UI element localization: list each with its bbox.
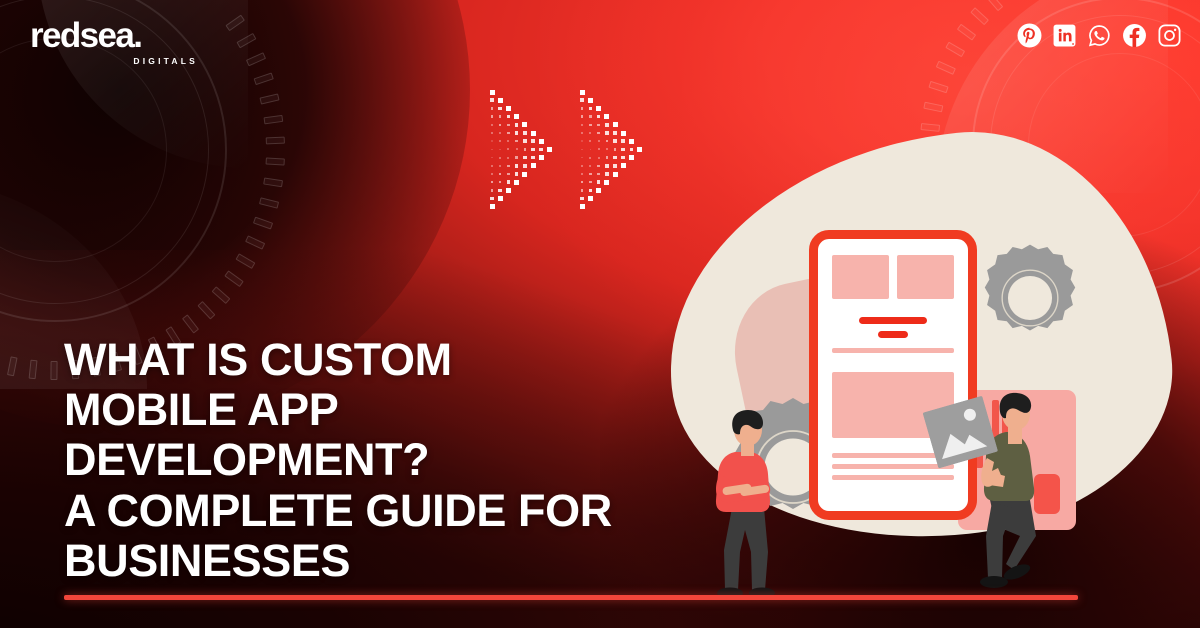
- instagram-icon[interactable]: [1156, 22, 1182, 48]
- page-title-line-1: WHAT IS CUSTOM: [64, 335, 684, 385]
- phone-subtitle-bar: [878, 331, 908, 338]
- title-underline-rule: [64, 595, 1078, 600]
- page-title-line-2: MOBILE APP: [64, 385, 684, 435]
- facebook-icon[interactable]: [1121, 22, 1147, 48]
- phone-thumbnail-row: [832, 255, 954, 299]
- social-links: [1016, 22, 1182, 48]
- blog-banner: redsea. DIGITALS WHAT IS CUSTOM MOBILE A…: [0, 0, 1200, 628]
- brand-logo-tagline: DIGITALS: [30, 56, 210, 66]
- gear-large-right-icon: [972, 240, 1088, 356]
- phone-thumb-right: [897, 255, 954, 299]
- page-title-line-4: A COMPLETE GUIDE FOR: [64, 486, 684, 536]
- page-title: WHAT IS CUSTOM MOBILE APP DEVELOPMENT? A…: [64, 335, 684, 586]
- person-arms-crossed: [702, 408, 792, 603]
- brand-logo-name: redsea.: [30, 18, 210, 53]
- pinterest-icon[interactable]: [1016, 22, 1042, 48]
- linkedin-icon[interactable]: [1051, 22, 1077, 48]
- phone-title-bar: [859, 317, 927, 324]
- brand-logo[interactable]: redsea. DIGITALS: [30, 18, 210, 66]
- page-title-line-3: DEVELOPMENT?: [64, 435, 684, 485]
- phone-text-line-3: [832, 475, 954, 480]
- whatsapp-icon[interactable]: [1086, 22, 1112, 48]
- phone-text-line-2: [832, 464, 954, 469]
- page-title-line-5: BUSINESSES: [64, 536, 684, 586]
- phone-caption-line: [832, 348, 954, 353]
- phone-thumb-left: [832, 255, 889, 299]
- phone-mockup: [809, 230, 977, 520]
- mobile-app-development-illustration: [640, 120, 1200, 620]
